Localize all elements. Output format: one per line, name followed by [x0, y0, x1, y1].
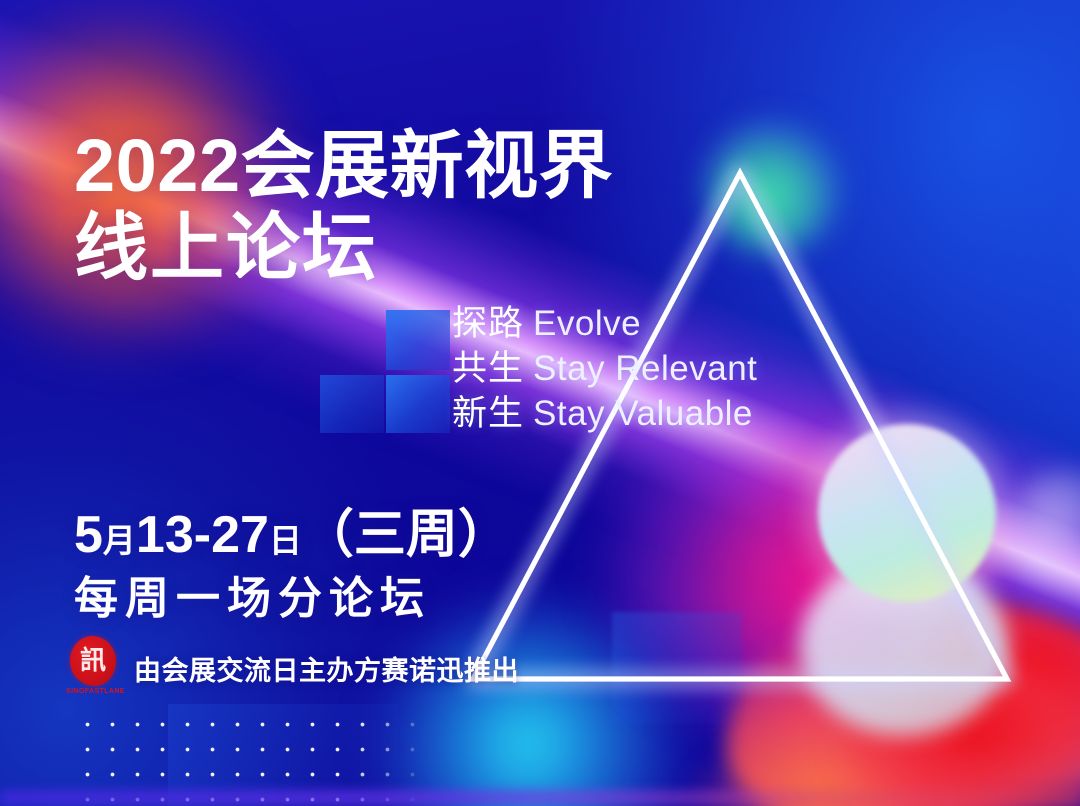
poster-content: 2022会展新视界 线上论坛 探路Evolve 共生Stay Relevant …	[0, 0, 1080, 806]
sinofastlane-logo-icon: 訊 SINOFASTLANE	[66, 636, 122, 700]
organizer-text: 由会展交流日主办方赛诺迅推出	[134, 649, 519, 688]
date-block: 5月13-27日（三周） 每周一场分论坛	[74, 506, 510, 624]
tagline-en-3: Stay Valuable	[533, 394, 753, 433]
logo-wordmark: SINOFASTLANE	[66, 688, 122, 695]
tagline-row-2: 共生Stay Relevant	[452, 346, 757, 391]
tagline-row-3: 新生Stay Valuable	[452, 391, 757, 436]
organizer-block: 訊 SINOFASTLANE 由会展交流日主办方赛诺迅推出	[66, 636, 519, 700]
logo-glyph: 訊	[70, 636, 116, 686]
page-title: 2022会展新视界 线上论坛	[74, 128, 613, 286]
date-cadence: 每周一场分论坛	[74, 574, 510, 623]
tagline-row-1: 探路Evolve	[452, 301, 757, 346]
title-line-main: 2022会展新视界	[74, 128, 613, 204]
date-duration: （三周）	[302, 506, 510, 564]
title-line-sub: 线上论坛	[74, 210, 613, 286]
tagline-en-1: Evolve	[533, 304, 641, 343]
date-month: 5	[74, 506, 103, 564]
poster-canvas: 2022会展新视界 线上论坛 探路Evolve 共生Stay Relevant …	[0, 0, 1080, 806]
tagline-cn-3: 新生	[452, 394, 524, 433]
tagline-list: 探路Evolve 共生Stay Relevant 新生Stay Valuable	[452, 301, 757, 436]
date-line: 5月13-27日（三周）	[74, 506, 510, 564]
date-range: 13-27	[136, 506, 269, 564]
date-day-unit: 日	[269, 522, 302, 559]
tagline-en-2: Stay Relevant	[533, 349, 757, 388]
tagline-cn-2: 共生	[452, 349, 524, 388]
date-month-unit: 月	[103, 522, 136, 559]
tagline-cn-1: 探路	[452, 304, 524, 343]
